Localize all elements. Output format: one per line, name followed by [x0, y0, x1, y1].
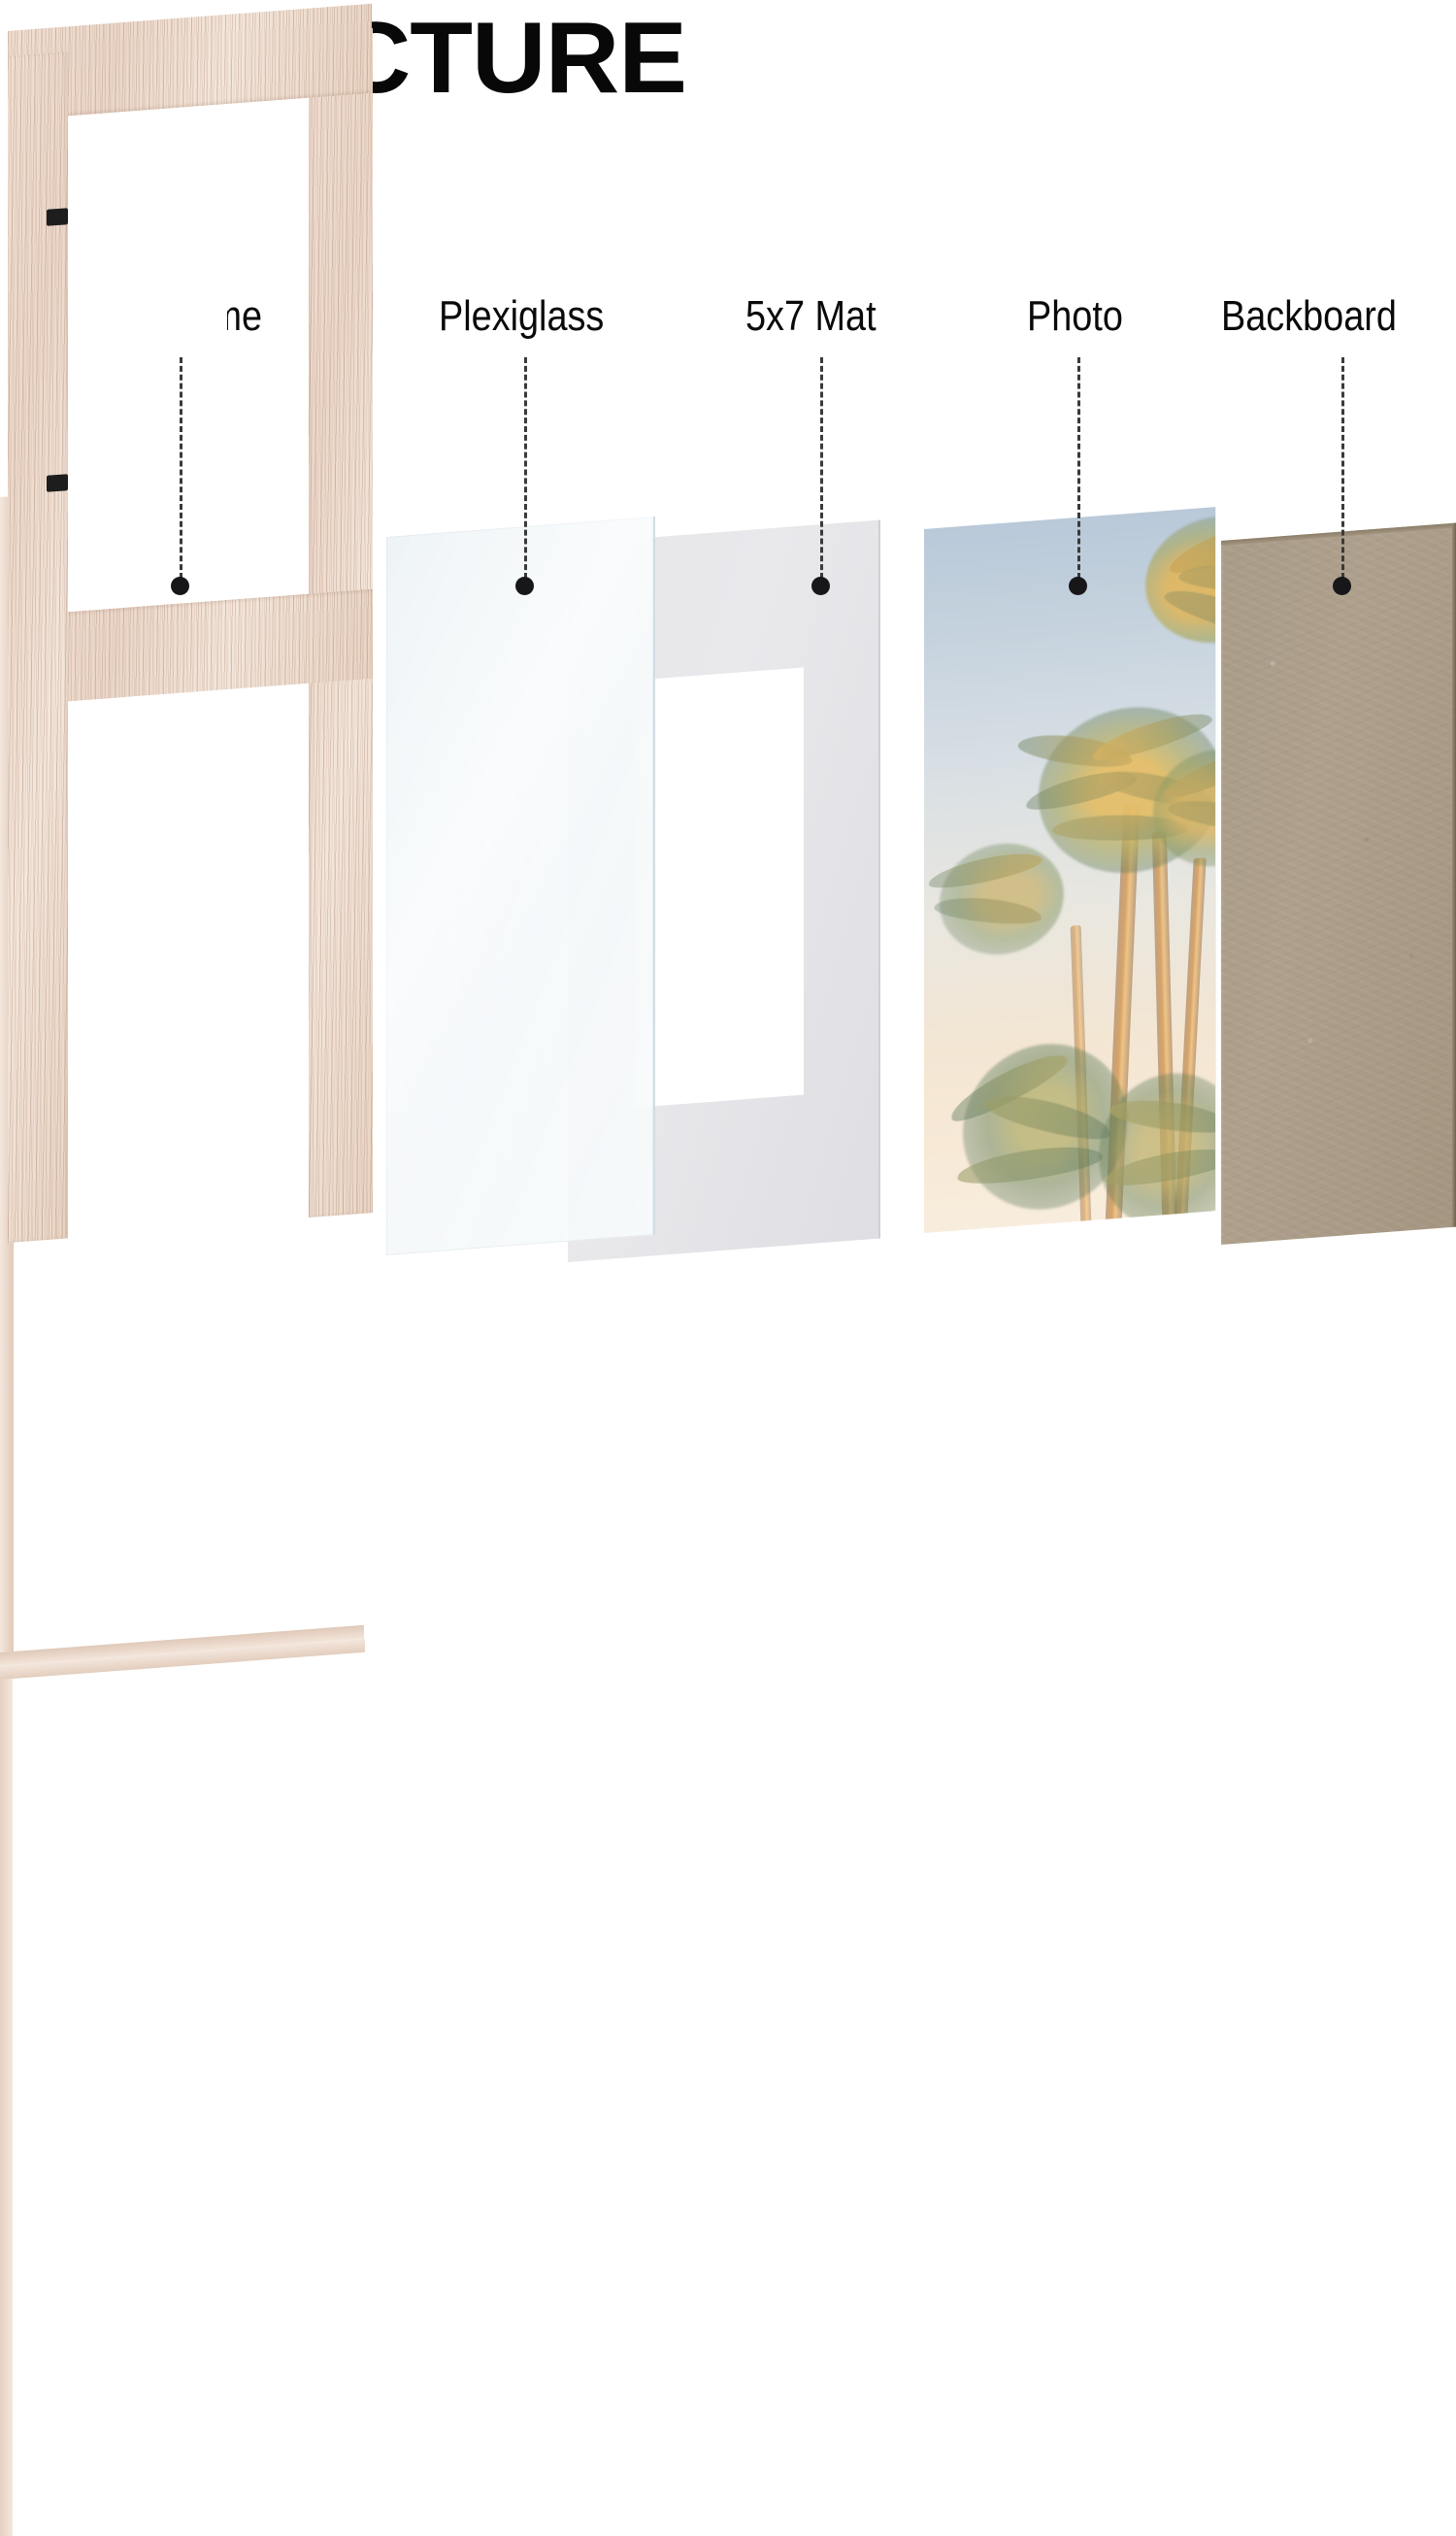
backboard-right-edge	[1452, 523, 1456, 1227]
frame-clip	[47, 474, 68, 492]
label-backboard: Backboard	[1221, 291, 1397, 342]
plexiglass-sheen	[386, 517, 653, 1255]
layer-wooden-frame	[0, 0, 388, 738]
leader-line-photo	[1077, 357, 1080, 579]
leader-dot-plexiglass	[515, 577, 534, 595]
leader-dot-backboard	[1333, 577, 1351, 595]
frame-clip	[47, 208, 68, 226]
infographic-canvas: STRUCTURE Wooden Frame Plexiglass 5x7 Ma…	[0, 0, 1456, 1268]
leader-line-backboard	[1341, 357, 1344, 579]
leader-line-mat	[820, 357, 823, 579]
leader-line-plexiglass	[524, 357, 527, 579]
label-mat: 5x7 Mat	[745, 291, 877, 342]
label-plexiglass: Plexiglass	[439, 291, 604, 342]
layer-photo	[924, 507, 1215, 1233]
leader-dot-photo	[1069, 577, 1087, 595]
leader-dot-mat	[811, 577, 830, 595]
leader-line-wooden-frame	[180, 357, 182, 579]
label-photo: Photo	[1027, 291, 1123, 342]
mat-window-opening	[638, 668, 804, 1108]
layer-plexiglass	[386, 517, 655, 1255]
layer-backboard	[1221, 523, 1456, 1245]
leader-dot-wooden-frame	[171, 577, 189, 595]
frame-left-rail	[8, 51, 68, 1243]
frame-left-lip	[0, 1679, 13, 2536]
backboard-top-edge	[1221, 523, 1456, 546]
